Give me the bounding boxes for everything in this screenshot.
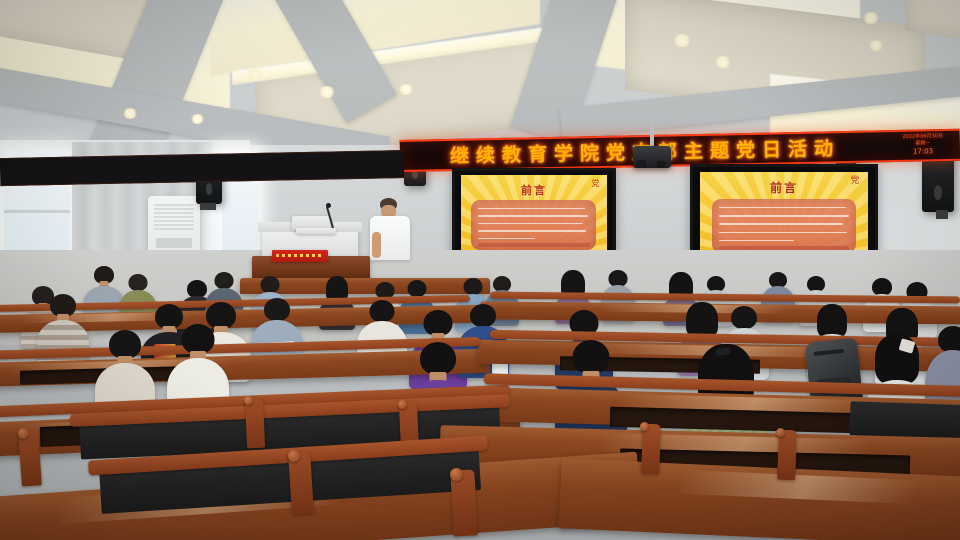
slide-left-logo: 党 [591, 180, 599, 188]
slide-text-line [719, 207, 846, 209]
plaque-text-glyphs [276, 254, 323, 257]
downlight-9 [190, 114, 205, 124]
head [264, 298, 290, 321]
head [109, 330, 141, 359]
speaker-bracket-right [936, 210, 948, 219]
downlight-7 [868, 40, 884, 51]
wall-speaker-right [922, 154, 954, 212]
led-clock: 2022年06月30日 星期一 17:03 [890, 133, 956, 157]
slide-text-line [478, 230, 587, 232]
bench-arm [777, 430, 797, 481]
ceiling [0, 0, 960, 152]
presenter-arm [372, 232, 381, 258]
slide-text-line [478, 215, 588, 217]
head [420, 342, 456, 375]
head [573, 340, 610, 374]
slide-right-body [712, 199, 856, 254]
red-banner-plaque [272, 250, 328, 262]
bench-knob [640, 422, 649, 431]
slide-text-line [478, 208, 586, 210]
presenter [368, 198, 412, 260]
laptop-base [296, 228, 336, 234]
head [470, 304, 496, 327]
head [129, 274, 148, 291]
bench-arm [641, 424, 661, 475]
slide-text-line [478, 223, 583, 225]
head [182, 324, 215, 354]
led-clock-time: 17:03 [890, 147, 956, 157]
downlight-5 [714, 56, 732, 68]
slide-text-line [719, 215, 849, 217]
ac-grill [154, 204, 194, 230]
bench-knob [288, 450, 300, 462]
downlight-8 [122, 108, 138, 119]
slide-left-title: 前言 [521, 182, 547, 198]
head [261, 276, 280, 293]
downlight-6 [862, 12, 880, 24]
bench-knob [398, 400, 407, 409]
projector-lens [637, 160, 646, 168]
head [464, 278, 483, 295]
ceiling-projector [633, 146, 671, 168]
head [408, 280, 427, 297]
bench-arm [245, 398, 265, 449]
head [215, 272, 234, 289]
hair [817, 304, 847, 338]
bench-knob [776, 428, 785, 437]
conference-room-photo: 继续教育学院党支部主题党日活动 2022年06月30日 星期一 17:03 前言… [0, 0, 960, 540]
slide-text-line [719, 223, 843, 225]
downlight-2 [318, 86, 336, 98]
backpack-strap [814, 349, 844, 356]
speaker-bracket-left [200, 203, 216, 210]
slide-note-bar [478, 243, 591, 247]
projector-mount-pole [650, 118, 654, 148]
downlight-3 [398, 84, 414, 95]
slide-text-line [719, 240, 794, 242]
slide-text-line [478, 238, 536, 240]
bench-knob [18, 428, 29, 439]
desk-sheen [680, 470, 960, 508]
slide-right-logo: 党 [850, 177, 859, 186]
slide-right-title: 前言 [770, 179, 798, 196]
slide-left-body [471, 200, 596, 250]
torso [37, 320, 89, 366]
slide-text-line [719, 232, 847, 234]
bench-knob [450, 468, 463, 481]
ac-vent [156, 238, 192, 248]
microphone-head [326, 203, 331, 208]
projector-foot [657, 161, 665, 168]
bench-knob [244, 396, 253, 405]
window-mullion-1 [4, 210, 70, 213]
head [938, 326, 960, 353]
head [731, 306, 757, 329]
downlight-4 [672, 34, 692, 47]
downlight-1 [246, 68, 264, 80]
head [370, 300, 395, 322]
